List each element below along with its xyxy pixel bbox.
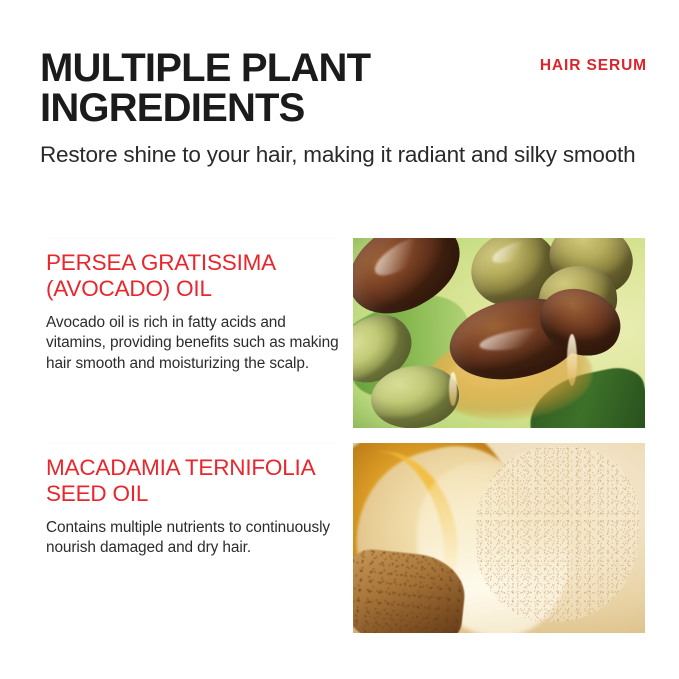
ingredient-photo-avocado <box>353 238 645 428</box>
ingredient-section-macadamia: MACADAMIA TERNIFOLIA SEED OIL Contains m… <box>0 443 679 633</box>
oil-drip-1 <box>567 334 577 386</box>
ingredient-title-macadamia: MACADAMIA TERNIFOLIA SEED OIL <box>46 455 346 508</box>
product-infographic-page: HAIR SERUM MULTIPLE PLANT INGREDIENTS Re… <box>0 0 679 679</box>
ingredient-text-column: PERSEA GRATISSIMA (AVOCADO) OIL Avocado … <box>46 250 346 374</box>
header: HAIR SERUM MULTIPLE PLANT INGREDIENTS Re… <box>40 48 647 168</box>
ingredient-description-macadamia: Contains multiple nutrients to continuou… <box>46 518 346 559</box>
oil-drip-2 <box>449 372 457 406</box>
foam-texture-shape <box>476 447 640 622</box>
ingredient-section-avocado: PERSEA GRATISSIMA (AVOCADO) OIL Avocado … <box>0 238 679 428</box>
section-divider <box>46 238 336 239</box>
ingredient-photo-macadamia <box>353 443 645 633</box>
ingredient-title-avocado: PERSEA GRATISSIMA (AVOCADO) OIL <box>46 250 346 303</box>
page-title: MULTIPLE PLANT INGREDIENTS <box>40 48 470 128</box>
ingredient-description-avocado: Avocado oil is rich in fatty acids and v… <box>46 313 346 374</box>
page-subtitle: Restore shine to your hair, making it ra… <box>40 141 640 168</box>
product-category-eyebrow: HAIR SERUM <box>540 57 647 75</box>
section-divider <box>46 443 336 444</box>
ingredient-text-column: MACADAMIA TERNIFOLIA SEED OIL Contains m… <box>46 455 346 559</box>
